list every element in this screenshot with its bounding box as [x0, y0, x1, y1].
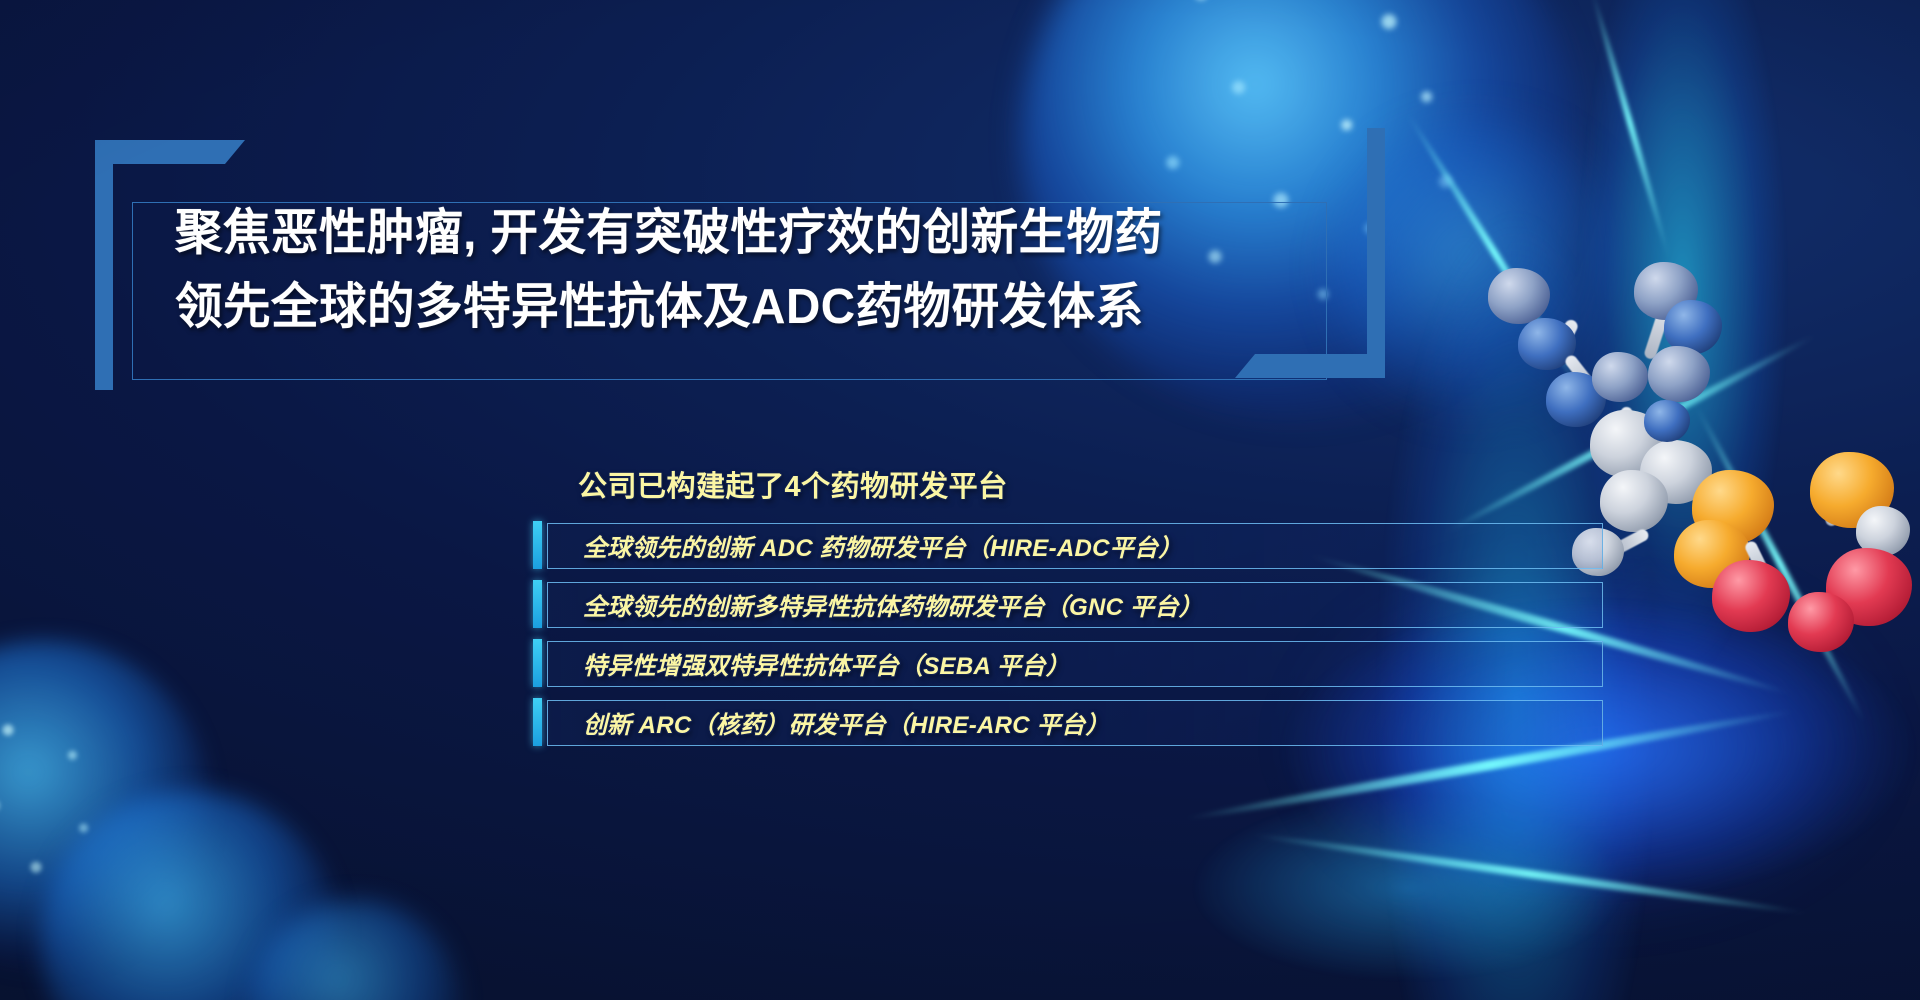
platform-label: 全球领先的创新 ADC 药物研发平台（HIRE-ADC平台）	[583, 528, 1183, 563]
platform-accent-bar	[533, 580, 542, 628]
page-title: 聚焦恶性肿瘤, 开发有突破性疗效的创新生物药 领先全球的多特异性抗体及ADC药物…	[175, 196, 1355, 344]
headline-line-1: 聚焦恶性肿瘤, 开发有突破性疗效的创新生物药	[175, 196, 1320, 270]
platform-row[interactable]: 创新 ARC（核药）研发平台（HIRE-ARC 平台）	[533, 700, 1603, 744]
platform-row[interactable]: 特异性增强双特异性抗体平台（SEBA 平台）	[533, 641, 1603, 685]
platform-section: 公司已构建起了4个药物研发平台 全球领先的创新 ADC 药物研发平台（HIRE-…	[533, 463, 1603, 759]
platform-row[interactable]: 全球领先的创新多特异性抗体药物研发平台（GNC 平台）	[533, 582, 1603, 626]
platform-label: 特异性增强双特异性抗体平台（SEBA 平台）	[583, 646, 1070, 681]
platform-label: 全球领先的创新多特异性抗体药物研发平台（GNC 平台）	[583, 587, 1203, 622]
slide-canvas: 聚焦恶性肿瘤, 开发有突破性疗效的创新生物药 领先全球的多特异性抗体及ADC药物…	[0, 0, 1920, 1000]
platform-accent-bar	[533, 639, 542, 687]
platform-accent-bar	[533, 698, 542, 746]
headline-line-2: 领先全球的多特异性抗体及ADC药物研发体系	[175, 270, 1320, 344]
platform-row[interactable]: 全球领先的创新 ADC 药物研发平台（HIRE-ADC平台）	[533, 523, 1603, 567]
platform-accent-bar	[533, 521, 542, 569]
platform-label: 创新 ARC（核药）研发平台（HIRE-ARC 平台）	[583, 705, 1110, 740]
platform-section-title: 公司已构建起了4个药物研发平台	[578, 463, 1603, 505]
